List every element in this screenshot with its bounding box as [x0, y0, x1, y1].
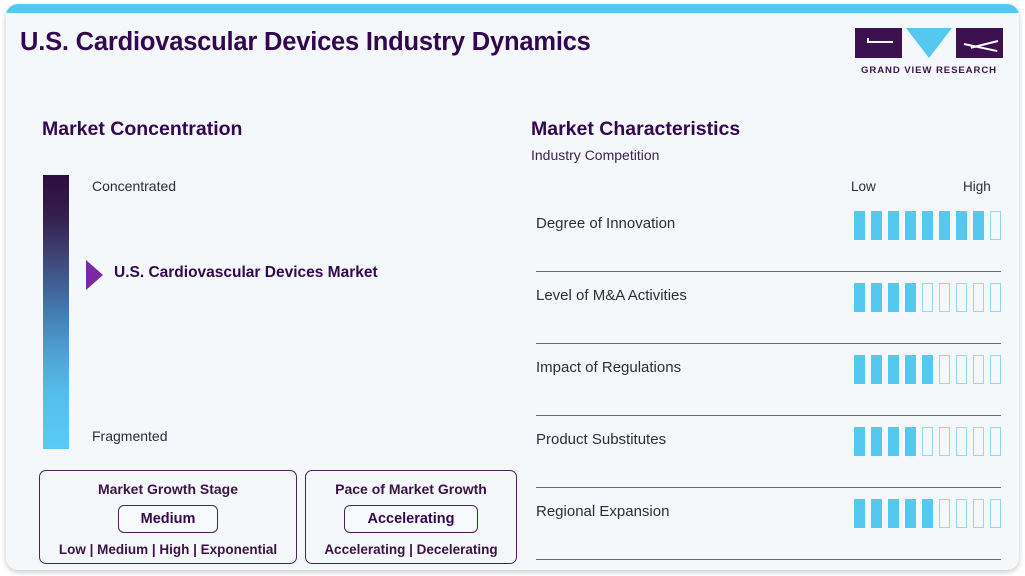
rating-bar-filled	[871, 355, 882, 384]
infographic-card: U.S. Cardiovascular Devices Industry Dyn…	[6, 4, 1019, 570]
rating-bar-filled	[905, 427, 916, 456]
rating-bar-filled	[939, 211, 950, 240]
rating-bar-empty	[990, 499, 1001, 528]
concentration-gradient-scale	[43, 175, 69, 449]
rating-bar-empty	[956, 355, 967, 384]
rating-bar-empty	[990, 355, 1001, 384]
market-growth-stage-value: Medium	[118, 505, 219, 533]
rating-bar-empty	[939, 283, 950, 312]
page-title: U.S. Cardiovascular Devices Industry Dyn…	[20, 28, 591, 57]
characteristic-row: Product Substitutes	[536, 416, 1001, 488]
rating-bar-filled	[888, 211, 899, 240]
row-separator	[536, 559, 1001, 560]
rating-bar-empty	[990, 283, 1001, 312]
market-growth-stage-scale: Low | Medium | High | Exponential	[40, 542, 296, 557]
infographic-canvas: U.S. Cardiovascular Devices Industry Dyn…	[0, 0, 1025, 576]
rating-bar-empty	[990, 211, 1001, 240]
rating-bar-filled	[871, 427, 882, 456]
rating-bar-filled	[854, 211, 865, 240]
rating-bar-filled	[854, 427, 865, 456]
brand-logo: GRAND VIEW RESEARCH	[855, 28, 1003, 76]
characteristic-rating-bars	[854, 355, 1001, 384]
rating-bar-filled	[973, 211, 984, 240]
rating-bar-empty	[939, 499, 950, 528]
pace-of-market-growth-scale: Accelerating | Decelerating	[306, 542, 516, 557]
pace-of-market-growth-value: Accelerating	[344, 505, 477, 533]
rating-bar-empty	[956, 283, 967, 312]
pace-of-market-growth-title: Pace of Market Growth	[306, 481, 516, 497]
pace-of-market-growth-card: Pace of Market Growth Accelerating Accel…	[305, 470, 517, 564]
scale-high-label: High	[963, 179, 991, 194]
rating-bar-filled	[905, 499, 916, 528]
rating-bar-filled	[854, 283, 865, 312]
rating-bar-filled	[905, 355, 916, 384]
scale-top-label: Concentrated	[92, 178, 176, 194]
market-position-marker-icon	[86, 260, 103, 290]
rating-bar-filled	[922, 355, 933, 384]
rating-bar-filled	[888, 499, 899, 528]
rating-bar-empty	[990, 427, 1001, 456]
scale-bottom-label: Fragmented	[92, 428, 167, 444]
market-characteristics-subheading: Industry Competition	[531, 147, 659, 163]
rating-bar-filled	[888, 427, 899, 456]
characteristic-rating-bars	[854, 427, 1001, 456]
rating-bar-empty	[922, 283, 933, 312]
characteristic-rating-bars	[854, 211, 1001, 240]
rating-bar-filled	[922, 499, 933, 528]
rating-bar-empty	[973, 355, 984, 384]
rating-bar-empty	[973, 499, 984, 528]
rating-bar-empty	[956, 427, 967, 456]
top-accent-bar	[6, 4, 1019, 13]
logo-wordmark: GRAND VIEW RESEARCH	[855, 65, 1003, 76]
rating-bar-empty	[956, 499, 967, 528]
rating-bar-filled	[871, 499, 882, 528]
rating-bar-filled	[871, 211, 882, 240]
logo-marks	[855, 28, 1003, 60]
characteristic-row: Regional Expansion	[536, 488, 1001, 560]
characteristic-label: Degree of Innovation	[536, 215, 675, 232]
market-growth-stage-card: Market Growth Stage Medium Low | Medium …	[39, 470, 297, 564]
rating-bar-empty	[939, 427, 950, 456]
rating-bar-filled	[888, 283, 899, 312]
characteristic-row: Degree of Innovation	[536, 200, 1001, 272]
rating-bar-filled	[871, 283, 882, 312]
characteristic-rating-bars	[854, 499, 1001, 528]
gvr-triangle-icon	[906, 28, 952, 58]
characteristic-row: Level of M&A Activities	[536, 272, 1001, 344]
rating-bar-filled	[854, 355, 865, 384]
rating-bar-empty	[922, 427, 933, 456]
rating-bar-filled	[905, 283, 916, 312]
rating-bar-filled	[905, 211, 916, 240]
rating-bar-filled	[956, 211, 967, 240]
rating-bar-filled	[854, 499, 865, 528]
rating-bar-empty	[973, 283, 984, 312]
market-concentration-heading: Market Concentration	[42, 118, 242, 141]
rating-bar-empty	[973, 427, 984, 456]
characteristic-row: Impact of Regulations	[536, 344, 1001, 416]
rating-bar-filled	[888, 355, 899, 384]
market-position-label: U.S. Cardiovascular Devices Market	[114, 264, 378, 282]
scale-low-label: Low	[851, 179, 876, 194]
market-growth-stage-title: Market Growth Stage	[40, 481, 296, 497]
market-characteristics-heading: Market Characteristics	[531, 118, 740, 141]
characteristic-label: Level of M&A Activities	[536, 287, 687, 304]
gvr-block-r-icon	[956, 28, 1003, 58]
rating-bar-empty	[939, 355, 950, 384]
characteristic-rating-bars	[854, 283, 1001, 312]
gvr-block-g-icon	[855, 28, 902, 58]
characteristic-label: Impact of Regulations	[536, 359, 681, 376]
rating-bar-filled	[922, 211, 933, 240]
characteristic-label: Product Substitutes	[536, 431, 666, 448]
characteristic-label: Regional Expansion	[536, 503, 669, 520]
